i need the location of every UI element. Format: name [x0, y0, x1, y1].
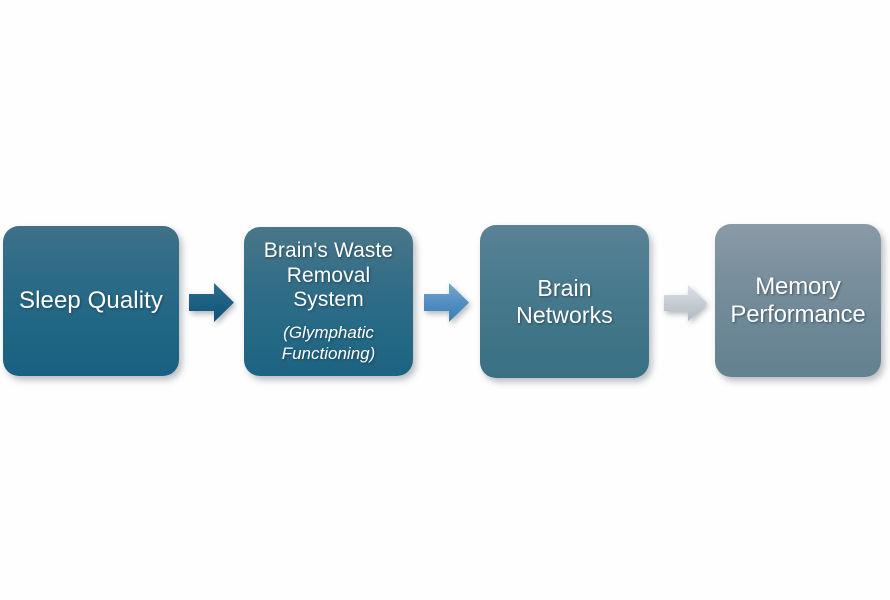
flow-node-sleep-quality[interactable]: Sleep Quality	[3, 226, 179, 376]
flow-node-title: Memory Performance	[726, 273, 869, 329]
right-arrow-icon-waste-to-networks	[424, 283, 469, 322]
flow-node-title: Brain's Waste Removal System	[260, 239, 397, 312]
flow-node-title: Sleep Quality	[15, 287, 167, 315]
flow-node-memory-performance[interactable]: Memory Performance	[715, 224, 881, 377]
flow-node-subtitle: (Glymphatic Functioning)	[282, 323, 376, 363]
right-arrow-icon-sleep-to-waste	[189, 283, 234, 322]
process-flow-diagram: Sleep Quality Brain's Waste Removal Syst…	[0, 0, 890, 600]
right-arrow-icon-networks-to-memory	[664, 285, 707, 321]
flow-node-brain-networks[interactable]: Brain Networks	[480, 225, 649, 378]
flow-node-brains-waste-removal-system[interactable]: Brain's Waste Removal System (Glymphatic…	[244, 227, 413, 376]
flow-node-title: Brain Networks	[512, 275, 617, 328]
